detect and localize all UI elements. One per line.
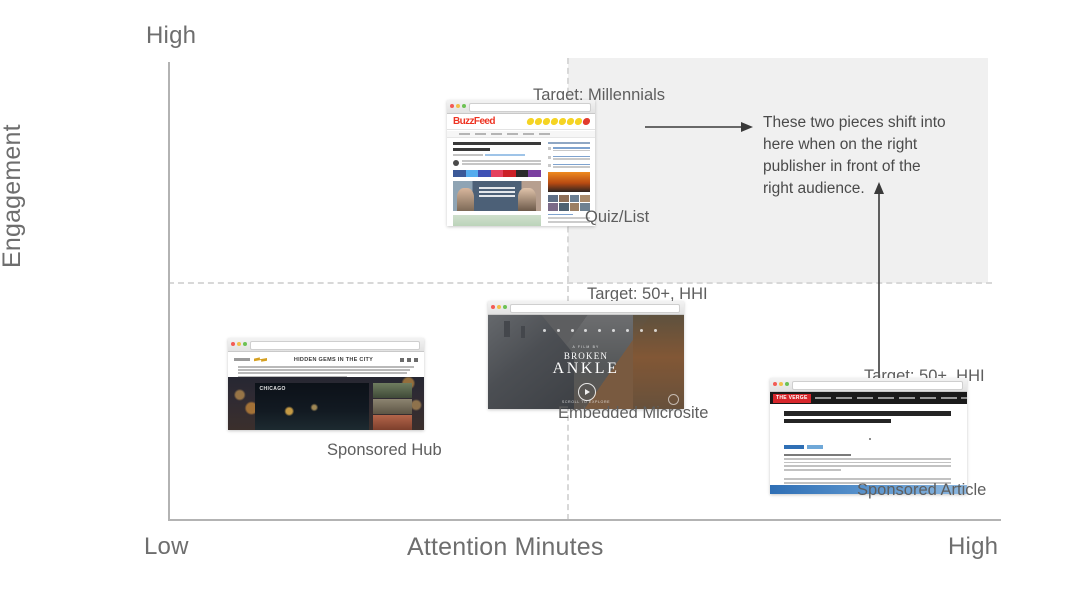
buzzfeed-sidebar xyxy=(548,142,590,225)
author-row xyxy=(453,160,541,166)
screenshot-quiz-list[interactable]: BuzzFeed xyxy=(447,100,595,226)
hub-hero-photo[interactable]: CHICAGO xyxy=(255,383,369,430)
article-byline-placeholder xyxy=(453,154,541,156)
sidebar-list-item[interactable] xyxy=(548,156,590,161)
browser-chrome xyxy=(228,338,424,352)
buzzfeed-logo: BuzzFeed xyxy=(453,116,495,127)
publisher-logo: THE VERGE xyxy=(773,394,811,403)
sidebar-heading-placeholder xyxy=(548,142,590,144)
screenshot-sponsored-hub[interactable]: HIDDEN GEMS IN THE CITY CHICAGO xyxy=(228,338,424,430)
caption-sponsored-hub: Sponsored Hub xyxy=(327,441,442,460)
nav-items[interactable] xyxy=(815,397,957,399)
browser-chrome xyxy=(447,100,595,114)
caption-sponsored-article: Sponsored Article xyxy=(857,481,986,500)
sidebar-promo-image[interactable] xyxy=(548,172,590,192)
y-axis-high-label: High xyxy=(146,22,196,50)
article-headline-placeholder xyxy=(453,142,541,151)
article-tags[interactable] xyxy=(784,445,823,449)
hub-intro-copy-placeholder xyxy=(238,366,414,379)
hub-photo-label: CHICAGO xyxy=(259,386,285,392)
chevrolet-bowtie-icon xyxy=(254,357,267,363)
window-controls-icon xyxy=(491,305,507,309)
quiz-hero-image xyxy=(453,181,541,211)
buzzfeed-header: BuzzFeed xyxy=(447,114,595,130)
microsite-title-large: ANKLE xyxy=(488,360,684,378)
y-axis-line xyxy=(168,62,170,521)
window-controls-icon xyxy=(773,382,789,386)
sidebar-list-item[interactable] xyxy=(548,164,590,169)
hub-site-title: HIDDEN GEMS IN THE CITY xyxy=(271,357,396,363)
article-separator-dot xyxy=(869,438,871,440)
microsite-nav-dots[interactable] xyxy=(543,329,657,332)
article-headline-placeholder xyxy=(784,411,951,426)
x-axis-title: Attention Minutes xyxy=(407,533,604,562)
sidebar-thumbnail-grid[interactable] xyxy=(548,195,590,211)
browser-viewport: BuzzFeed xyxy=(447,114,595,226)
screenshot-embedded-microsite[interactable]: A FILM BY BROKEN ANKLE SCROLL TO EXPLORE xyxy=(488,301,684,409)
divider-horizontal xyxy=(168,282,992,284)
screenshot-sponsored-article[interactable]: THE VERGE xyxy=(770,378,967,494)
address-bar[interactable] xyxy=(792,381,963,390)
caption-embedded-microsite: Embedded Microsite xyxy=(558,404,708,423)
buzzfeed-badges-icon xyxy=(527,118,590,125)
author-meta-placeholder xyxy=(462,160,541,166)
hub-brand-row: HIDDEN GEMS IN THE CITY xyxy=(234,355,418,364)
nav-right-items[interactable] xyxy=(961,397,967,399)
arrow-horizontal-shift xyxy=(645,121,753,133)
x-axis-line xyxy=(168,519,1001,521)
hub-thumbnail-column[interactable] xyxy=(373,383,412,430)
hub-action-icons[interactable] xyxy=(400,358,418,362)
buzzfeed-nav[interactable] xyxy=(447,131,595,138)
secondary-image xyxy=(453,215,541,226)
window-controls-icon xyxy=(231,342,247,346)
caption-quiz-list: Quiz/List xyxy=(585,208,649,227)
arrow-vertical-shift xyxy=(873,182,885,382)
microsite-kicker: A FILM BY xyxy=(488,345,684,349)
partner-logo xyxy=(234,358,250,361)
y-axis-title: Engagement xyxy=(0,124,27,268)
play-icon[interactable] xyxy=(578,383,596,401)
annotation-note: These two pieces shift into here when on… xyxy=(763,112,953,200)
x-axis-high-label: High xyxy=(948,533,998,561)
social-share-bar[interactable] xyxy=(453,170,541,177)
browser-viewport: HIDDEN GEMS IN THE CITY CHICAGO xyxy=(228,352,424,430)
browser-viewport: A FILM BY BROKEN ANKLE SCROLL TO EXPLORE xyxy=(488,315,684,409)
avatar xyxy=(453,160,459,166)
sidebar-list-item[interactable] xyxy=(548,147,590,152)
window-controls-icon xyxy=(450,104,466,108)
x-axis-low-label: Low xyxy=(144,533,189,561)
person-left xyxy=(457,188,475,211)
address-bar[interactable] xyxy=(469,103,591,112)
browser-chrome xyxy=(488,301,684,315)
address-bar[interactable] xyxy=(250,341,420,350)
person-right xyxy=(518,188,536,211)
address-bar[interactable] xyxy=(510,304,680,313)
quadrant-chart-slide: High Engagement Low Attention Minutes Hi… xyxy=(0,0,1072,612)
sidebar-footer-placeholder xyxy=(548,214,590,223)
publisher-nav-bar[interactable]: THE VERGE xyxy=(770,392,967,404)
buzzfeed-article-column xyxy=(453,142,541,226)
quiz-overlay-text-placeholder xyxy=(479,187,514,199)
browser-viewport: THE VERGE xyxy=(770,392,967,494)
browser-chrome xyxy=(770,378,967,392)
